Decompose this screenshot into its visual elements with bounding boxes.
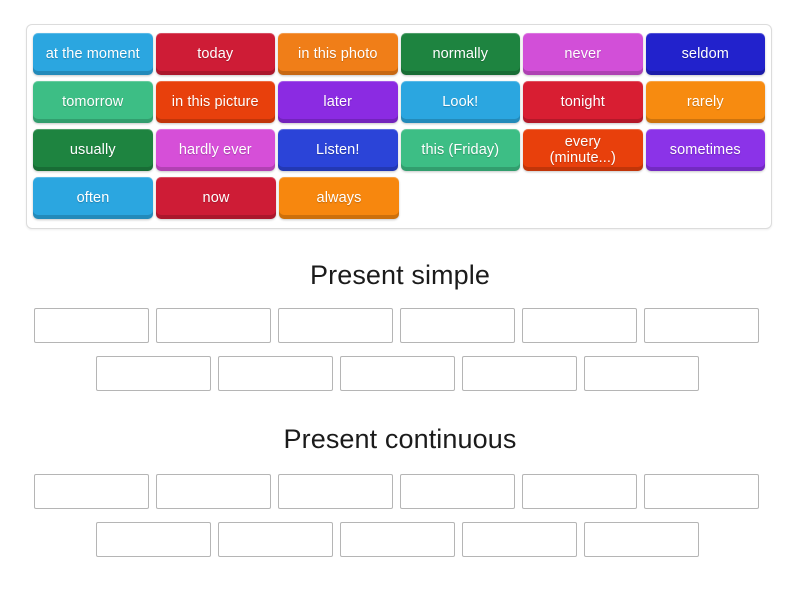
- word-bank-panel: at the momenttodayin this photonormallyn…: [26, 24, 772, 229]
- dropzone-slot[interactable]: [522, 308, 637, 343]
- word-tile[interactable]: every (minute...): [523, 129, 643, 171]
- word-tile-label: normally: [432, 46, 488, 62]
- word-tile[interactable]: later: [278, 81, 398, 123]
- word-tile-label: every (minute...): [550, 134, 616, 166]
- word-tile-label: tomorrow: [62, 94, 123, 110]
- word-tile-label: never: [564, 46, 601, 62]
- word-tile[interactable]: always: [279, 177, 399, 219]
- dropzone-slot[interactable]: [462, 522, 577, 557]
- word-tile[interactable]: at the moment: [33, 33, 153, 75]
- word-tile-label: Listen!: [316, 142, 359, 158]
- word-tile[interactable]: usually: [33, 129, 153, 171]
- word-tile-label: usually: [70, 142, 116, 158]
- dropzone-slot[interactable]: [584, 522, 699, 557]
- word-tile[interactable]: this (Friday): [401, 129, 521, 171]
- word-tile[interactable]: in this picture: [156, 81, 276, 123]
- word-tile-label: tonight: [561, 94, 605, 110]
- dropzone-row: [0, 522, 800, 557]
- dropzone-slot[interactable]: [218, 356, 333, 391]
- word-tile[interactable]: seldom: [646, 33, 766, 75]
- word-tile-label: hardly ever: [179, 142, 252, 158]
- word-tile-label: later: [323, 94, 352, 110]
- word-tile-label: always: [317, 190, 362, 206]
- dropzone-row: [0, 308, 800, 343]
- word-tile-row: oftennowalways: [33, 177, 765, 219]
- word-tile-label: in this photo: [298, 46, 378, 62]
- word-tile-label: Look!: [442, 94, 478, 110]
- dropzone-slot[interactable]: [400, 308, 515, 343]
- word-tile-label: today: [197, 46, 233, 62]
- dropzone-slot[interactable]: [400, 474, 515, 509]
- dropzone-slot[interactable]: [278, 308, 393, 343]
- dropzone-slot[interactable]: [156, 474, 271, 509]
- dropzone-group-present-continuous: [0, 474, 800, 557]
- word-bank-tile-rows: at the momenttodayin this photonormallyn…: [27, 33, 771, 219]
- dropzone-slot[interactable]: [218, 522, 333, 557]
- word-tile-label: this (Friday): [421, 142, 499, 158]
- dropzone-slot[interactable]: [96, 356, 211, 391]
- word-tile[interactable]: in this photo: [278, 33, 398, 75]
- word-tile-label: often: [77, 190, 110, 206]
- word-tile-label: seldom: [682, 46, 729, 62]
- dropzone-slot[interactable]: [340, 522, 455, 557]
- dropzone-slot[interactable]: [340, 356, 455, 391]
- dropzone-slot[interactable]: [278, 474, 393, 509]
- dropzone-group-present-simple: [0, 308, 800, 391]
- word-tile[interactable]: often: [33, 177, 153, 219]
- word-tile[interactable]: tonight: [523, 81, 643, 123]
- word-tile-row: at the momenttodayin this photonormallyn…: [33, 33, 765, 75]
- dropzone-slot[interactable]: [34, 474, 149, 509]
- word-tile[interactable]: Listen!: [278, 129, 398, 171]
- word-tile[interactable]: never: [523, 33, 643, 75]
- category-heading-present-simple: Present simple: [0, 260, 800, 291]
- word-tile-label: now: [203, 190, 230, 206]
- word-tile[interactable]: rarely: [646, 81, 766, 123]
- dropzone-slot[interactable]: [584, 356, 699, 391]
- word-tile[interactable]: sometimes: [646, 129, 766, 171]
- dropzone-slot[interactable]: [96, 522, 211, 557]
- word-tile-label: rarely: [687, 94, 724, 110]
- word-tile[interactable]: normally: [401, 33, 521, 75]
- dropzone-slot[interactable]: [34, 308, 149, 343]
- category-heading-present-continuous: Present continuous: [0, 424, 800, 455]
- word-tile[interactable]: hardly ever: [156, 129, 276, 171]
- dropzone-row: [0, 474, 800, 509]
- word-tile-label: in this picture: [172, 94, 259, 110]
- dropzone-slot[interactable]: [644, 474, 759, 509]
- word-tile[interactable]: tomorrow: [33, 81, 153, 123]
- dropzone-slot[interactable]: [522, 474, 637, 509]
- word-tile-label: sometimes: [670, 142, 741, 158]
- dropzone-slot[interactable]: [644, 308, 759, 343]
- word-tile-row: usuallyhardly everListen!this (Friday)ev…: [33, 129, 765, 171]
- word-tile[interactable]: now: [156, 177, 276, 219]
- word-tile-label: at the moment: [46, 46, 140, 62]
- dropzone-row: [0, 356, 800, 391]
- dropzone-slot[interactable]: [462, 356, 577, 391]
- word-tile[interactable]: today: [156, 33, 276, 75]
- word-tile-row: tomorrowin this picturelaterLook!tonight…: [33, 81, 765, 123]
- activity-page: at the momenttodayin this photonormallyn…: [0, 0, 800, 600]
- word-tile[interactable]: Look!: [401, 81, 521, 123]
- dropzone-slot[interactable]: [156, 308, 271, 343]
